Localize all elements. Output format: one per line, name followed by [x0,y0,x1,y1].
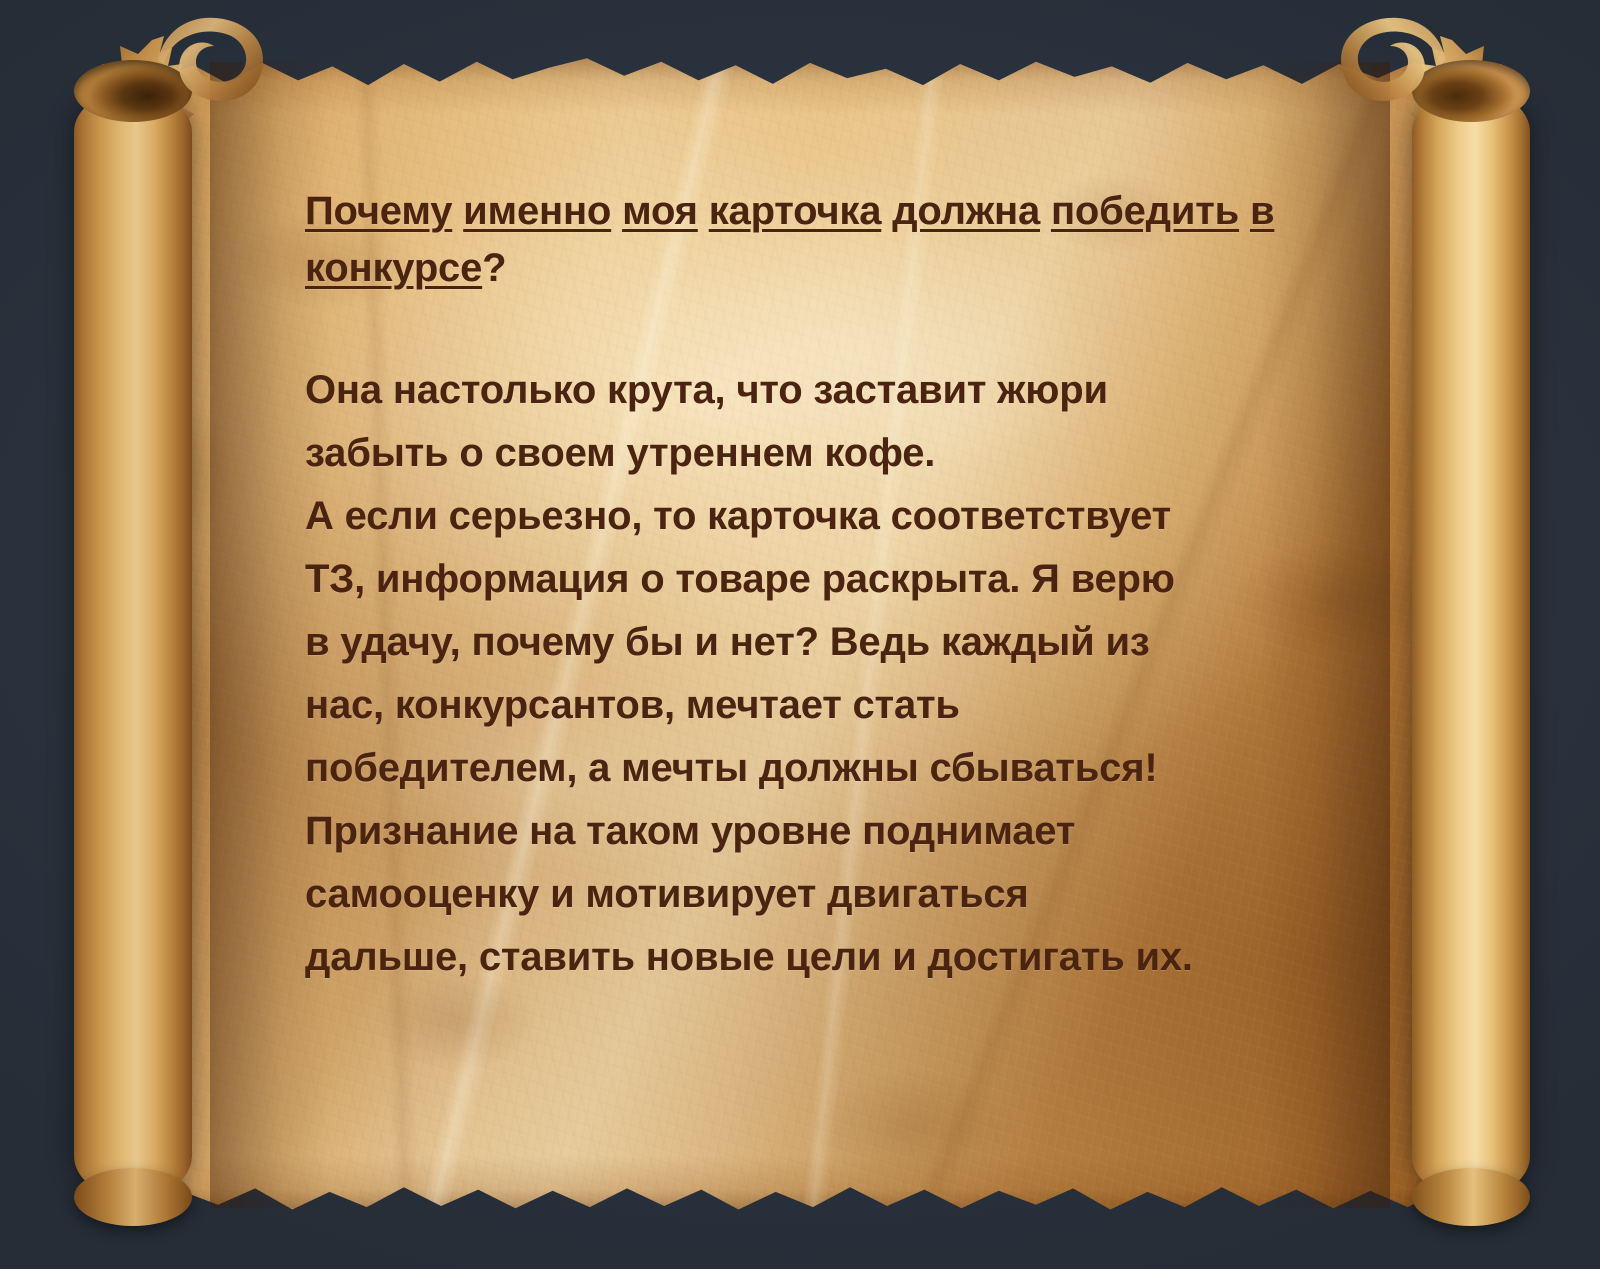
right-roll-opening [1412,60,1530,122]
body-line: нас, конкурсантов, мечтает стать [305,674,1430,737]
body-line: победителем, а мечты должны сбываться! [305,737,1430,800]
left-scroll-roll [74,90,192,1198]
body-line: Она настолько крута, что заставит жюри [305,359,1430,422]
heading-word-2: моя [622,189,698,233]
body-line: А если серьезно, то карточка соответству… [305,485,1430,548]
body-paragraph: Она настолько крута, что заставит жюри з… [305,359,1430,989]
heading-word-3: карточка [709,189,882,233]
heading-word-7: конкурсе [305,246,482,290]
body-line: забыть о своем утреннем кофе. [305,422,1430,485]
heading-question-mark: ? [482,246,506,290]
body-line: самооценку и мотивирует двигаться [305,863,1430,926]
body-line: дальше, ставить новые цели и достигать и… [305,926,1430,989]
body-line: ТЗ, информация о товаре раскрыта. Я верю [305,548,1430,611]
body-text: Она настолько крута, что заставит жюри з… [305,359,1430,989]
parchment-scroll: Почему именно моя карточка должна победи… [60,18,1540,1253]
heading-word-4: должна [892,189,1040,233]
right-roll-base [1412,1168,1530,1226]
page-heading: Почему именно моя карточка должна победи… [305,183,1430,297]
heading-word-6: в [1250,189,1274,233]
left-roll-opening [74,60,192,122]
heading-word-1: именно [463,189,611,233]
body-line: Признание на таком уровне поднимает [305,800,1430,863]
heading-word-5: победить [1051,189,1239,233]
left-roll-base [74,1168,192,1226]
scroll-content: Почему именно моя карточка должна победи… [305,183,1430,989]
body-line: в удачу, почему бы и нет? Ведь каждый из [305,611,1430,674]
heading-word-0: Почему [305,189,452,233]
